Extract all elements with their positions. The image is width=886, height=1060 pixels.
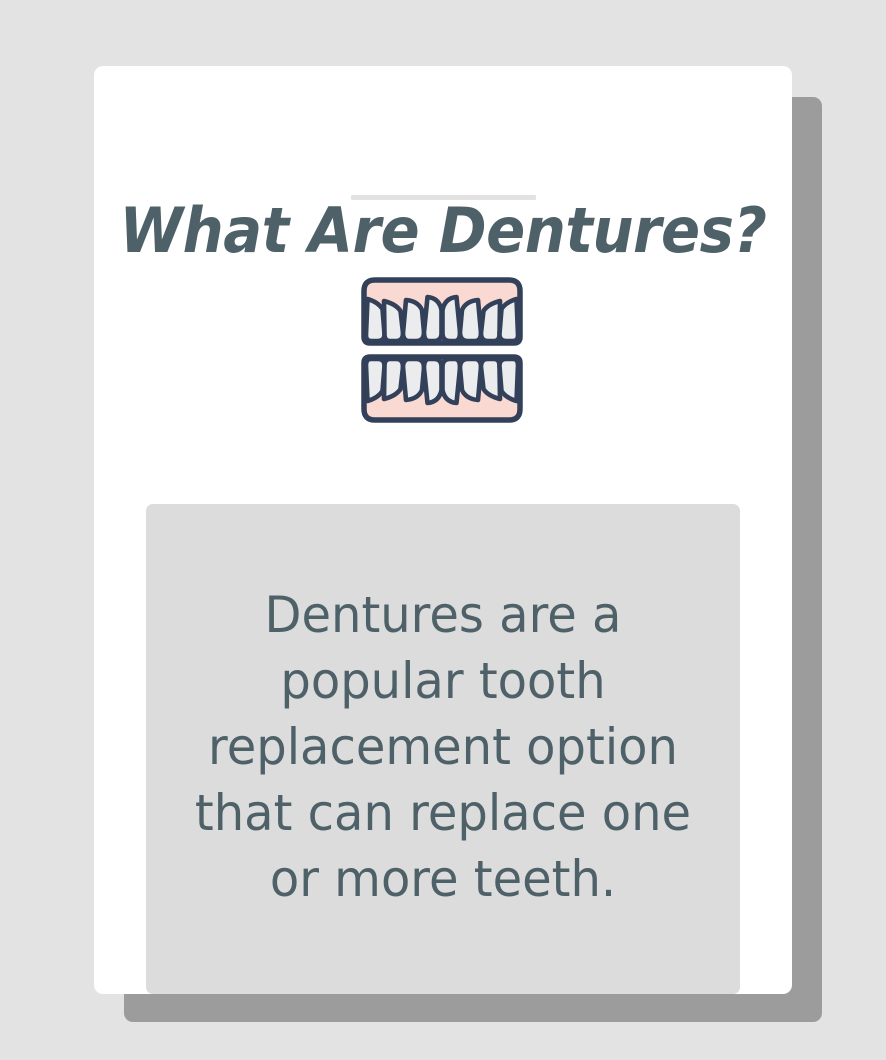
upper-denture: [364, 280, 520, 343]
body-text-panel: Dentures are a popular tooth replacement…: [146, 504, 740, 994]
title-divider: [351, 195, 536, 200]
lower-denture: [364, 357, 520, 420]
dentures-icon: [358, 277, 526, 423]
page-stage: What Are Dentures?: [0, 0, 886, 1060]
page-title: What Are Dentures?: [118, 200, 767, 262]
body-paragraph: Dentures are a popular tooth replacement…: [181, 582, 705, 912]
dentures-info-card: What Are Dentures?: [94, 66, 792, 994]
